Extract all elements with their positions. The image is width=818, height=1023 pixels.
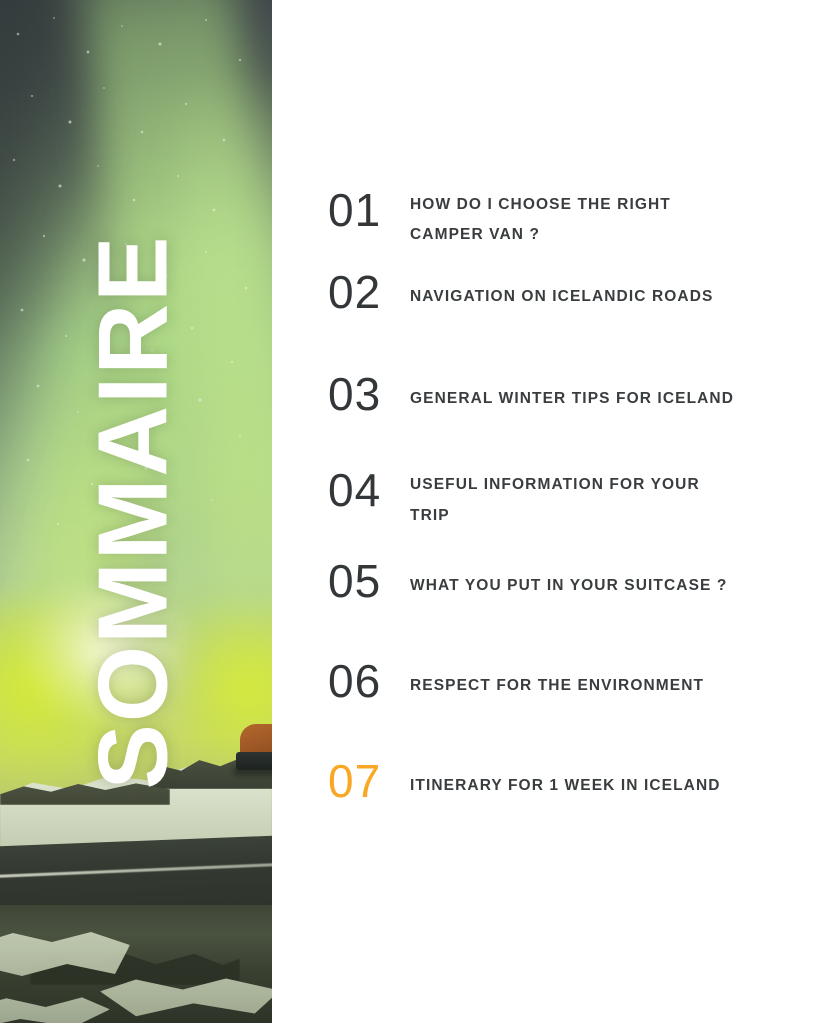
toc-entry-02[interactable]: 02 NAVIGATION ON ICELANDIC ROADS (328, 268, 804, 324)
toc-number-05: 05 (328, 557, 410, 605)
hero-panel: SOMMAIRE (0, 0, 272, 1023)
toc-label-01: HOW DO I CHOOSE THE RIGHT CAMPER VAN ? (410, 186, 740, 250)
toc-label-02: NAVIGATION ON ICELANDIC ROADS (410, 268, 770, 312)
toc-number-04: 04 (328, 466, 410, 514)
summary-page: SOMMAIRE 01 HOW DO I CHOOSE THE RIGHT CA… (0, 0, 818, 1023)
camper-van-icon (234, 718, 272, 778)
toc-entry-06[interactable]: 06 RESPECT FOR THE ENVIRONMENT (328, 657, 804, 713)
toc-entry-05[interactable]: 05 WHAT YOU PUT IN YOUR SUITCASE ? (328, 557, 804, 613)
toc-number-07: 07 (328, 757, 410, 805)
toc-label-05: WHAT YOU PUT IN YOUR SUITCASE ? (410, 557, 770, 601)
content-panel: 01 HOW DO I CHOOSE THE RIGHT CAMPER VAN … (272, 0, 818, 1023)
toc-number-02: 02 (328, 268, 410, 316)
toc-label-07: ITINERARY FOR 1 WEEK IN ICELAND (410, 757, 770, 801)
aurora-white-glow (20, 575, 190, 725)
toc-entry-04[interactable]: 04 USEFUL INFORMATION FOR YOUR TRIP (328, 466, 804, 530)
toc-label-04: USEFUL INFORMATION FOR YOUR TRIP (410, 466, 740, 530)
toc-entry-01[interactable]: 01 HOW DO I CHOOSE THE RIGHT CAMPER VAN … (328, 186, 804, 250)
toc-number-01: 01 (328, 186, 410, 234)
toc-number-06: 06 (328, 657, 410, 705)
toc-label-03: GENERAL WINTER TIPS FOR ICELAND (410, 370, 770, 414)
rock-ridge-mid (0, 775, 170, 805)
toc-number-03: 03 (328, 370, 410, 418)
landscape-ground (0, 723, 272, 1023)
toc-entry-07[interactable]: 07 ITINERARY FOR 1 WEEK IN ICELAND (328, 757, 804, 813)
toc-entry-03[interactable]: 03 GENERAL WINTER TIPS FOR ICELAND (328, 370, 804, 426)
table-of-contents: 01 HOW DO I CHOOSE THE RIGHT CAMPER VAN … (328, 186, 804, 813)
toc-label-06: RESPECT FOR THE ENVIRONMENT (410, 657, 770, 701)
starfield-icon (0, 0, 272, 560)
camper-van-chassis (236, 752, 272, 770)
